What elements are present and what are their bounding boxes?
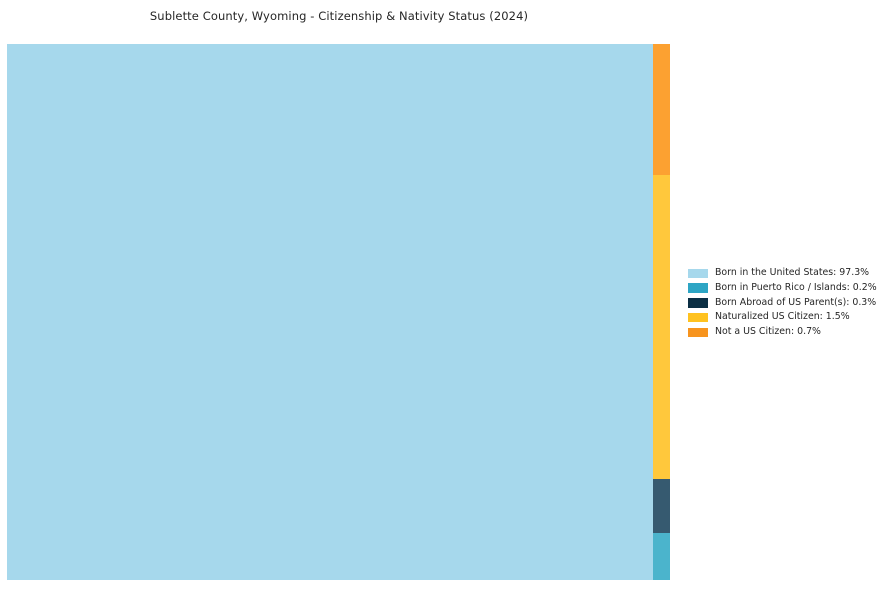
treemap-tile-born-abroad-of-us-parents bbox=[653, 479, 670, 533]
legend-swatch-icon bbox=[688, 283, 708, 293]
treemap-tile-naturalized-us-citizen bbox=[653, 175, 670, 479]
chart-legend: Born in the United States: 97.3% Born in… bbox=[688, 266, 883, 340]
legend-item: Born in the United States: 97.3% bbox=[688, 266, 883, 281]
treemap-plot-area bbox=[7, 44, 670, 580]
legend-item-label: Not a US Citizen: 0.7% bbox=[715, 325, 821, 339]
legend-swatch-icon bbox=[688, 328, 708, 338]
treemap-tile-not-a-us-citizen bbox=[653, 44, 670, 175]
chart-figure: Sublette County, Wyoming - Citizenship &… bbox=[0, 0, 889, 590]
legend-item-label: Born Abroad of US Parent(s): 0.3% bbox=[715, 296, 876, 310]
legend-swatch-icon bbox=[688, 298, 708, 308]
legend-item-label: Born in the United States: 97.3% bbox=[715, 266, 869, 280]
treemap-tile-born-in-the-united-states bbox=[7, 44, 670, 580]
legend-item-label: Naturalized US Citizen: 1.5% bbox=[715, 310, 850, 324]
legend-item: Not a US Citizen: 0.7% bbox=[688, 325, 883, 340]
legend-item: Born in Puerto Rico / Islands: 0.2% bbox=[688, 281, 883, 296]
legend-swatch-icon bbox=[688, 269, 708, 279]
treemap-minor-column bbox=[653, 44, 670, 580]
legend-item: Naturalized US Citizen: 1.5% bbox=[688, 310, 883, 325]
chart-title: Sublette County, Wyoming - Citizenship &… bbox=[0, 9, 678, 23]
legend-item-label: Born in Puerto Rico / Islands: 0.2% bbox=[715, 281, 877, 295]
treemap-tile-born-in-puerto-rico-islands bbox=[653, 533, 670, 580]
legend-item: Born Abroad of US Parent(s): 0.3% bbox=[688, 296, 883, 311]
legend-swatch-icon bbox=[688, 313, 708, 323]
